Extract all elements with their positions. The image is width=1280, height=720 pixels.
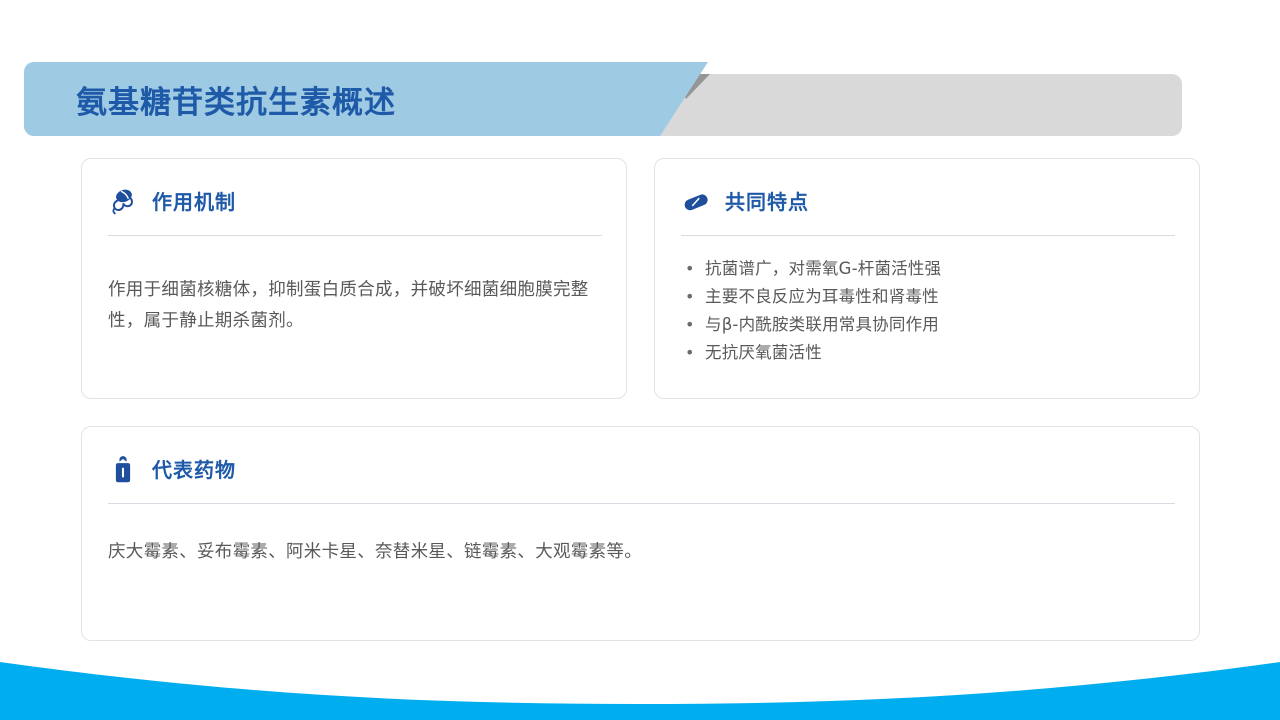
features-bullet-list: 抗菌谱广，对需氧G-杆菌活性强 主要不良反应为耳毒性和肾毒性 与β-内酰胺类联用… <box>679 255 1179 367</box>
card-mechanism: 作用机制 作用于细菌核糖体，抑制蛋白质合成，并破坏细菌细胞膜完整性，属于静止期杀… <box>81 158 627 399</box>
list-item: 无抗厌氧菌活性 <box>679 339 1179 367</box>
card-features-title: 共同特点 <box>725 192 809 212</box>
pill-icon <box>681 187 711 217</box>
card-features: 共同特点 抗菌谱广，对需氧G-杆菌活性强 主要不良反应为耳毒性和肾毒性 与β-内… <box>654 158 1200 399</box>
list-item: 与β-内酰胺类联用常具协同作用 <box>679 311 1179 339</box>
card-mechanism-header: 作用机制 <box>108 185 236 219</box>
bottom-wave-decoration <box>0 648 1280 720</box>
banner-back-plate <box>624 74 1182 136</box>
list-item: 主要不良反应为耳毒性和肾毒性 <box>679 283 1179 311</box>
card-drugs-header: 代表药物 <box>108 453 236 487</box>
medicine-bottle-icon <box>108 455 138 485</box>
card-drugs-divider <box>108 503 1175 504</box>
card-features-divider <box>681 235 1175 236</box>
slide-canvas: 氨基糖苷类抗生素概述 作用机制 作用于细菌核糖体，抑制蛋白质合成，并破坏细菌细胞… <box>0 0 1280 720</box>
title-banner: 氨基糖苷类抗生素概述 <box>24 62 1182 136</box>
brain-icon <box>108 187 138 217</box>
card-mechanism-divider <box>108 235 602 236</box>
card-drugs-body: 庆大霉素、妥布霉素、阿米卡星、奈替米星、链霉素、大观霉素等。 <box>108 537 1168 568</box>
page-title: 氨基糖苷类抗生素概述 <box>76 62 396 136</box>
list-item: 抗菌谱广，对需氧G-杆菌活性强 <box>679 255 1179 283</box>
card-mechanism-body: 作用于细菌核糖体，抑制蛋白质合成，并破坏细菌细胞膜完整性，属于静止期杀菌剂。 <box>108 275 608 337</box>
card-drugs-title: 代表药物 <box>152 460 236 480</box>
card-features-header: 共同特点 <box>681 185 809 219</box>
card-mechanism-title: 作用机制 <box>152 192 236 212</box>
card-drugs: 代表药物 庆大霉素、妥布霉素、阿米卡星、奈替米星、链霉素、大观霉素等。 <box>81 426 1200 641</box>
